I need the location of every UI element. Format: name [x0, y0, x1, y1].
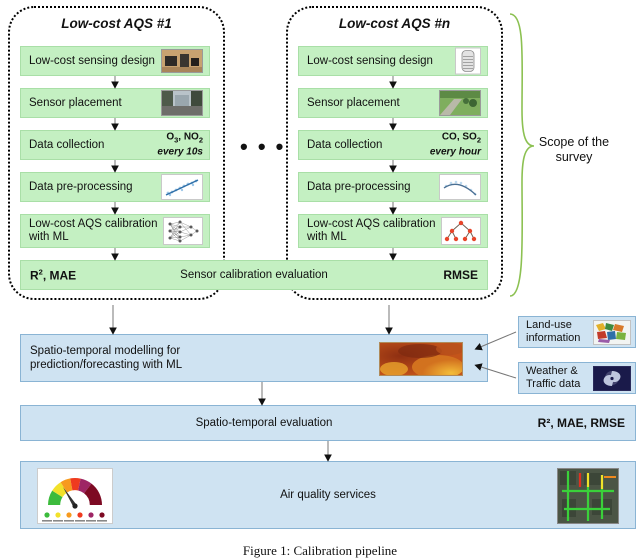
step-label: Low-cost sensing design — [299, 55, 433, 68]
thumb-park-path — [439, 90, 481, 116]
thumb-street-photo — [161, 90, 203, 116]
step-box-sensing-design-1: Low-cost sensing design — [20, 46, 210, 76]
thumb-city-pollution-map — [557, 468, 619, 524]
scope-of-survey-label: Scope of the survey — [520, 135, 628, 165]
thumb-decision-tree — [441, 217, 481, 245]
aqs-panel-n-title: Low-cost AQS #n — [286, 16, 503, 31]
air-quality-services-box: Air quality services — [20, 461, 636, 529]
step-label: Data pre-processing — [299, 181, 411, 194]
metric-right: RMSE — [443, 268, 478, 282]
step-box-calibration-n: Low-cost AQS calibrationwith ML — [298, 214, 488, 248]
input-label: Land-use information — [519, 319, 580, 345]
step-label: Sensor placement — [299, 97, 400, 110]
thumb-pollution-map — [379, 342, 463, 376]
thumb-scatter-regression — [161, 174, 203, 200]
thumb-curve-fit — [439, 174, 481, 200]
step-box-data-collection-n: Data collection CO, SO2 every hour — [298, 130, 488, 160]
thumb-sensor-board — [161, 49, 203, 73]
input-box-land-use: Land-use information — [518, 316, 636, 348]
sensor-calibration-evaluation-bar: R2, MAE Sensor calibration evaluation RM… — [20, 260, 488, 290]
evaluation-label: Sensor calibration evaluation — [21, 269, 487, 281]
step-box-preprocessing-n: Data pre-processing — [298, 172, 488, 202]
spatio-evaluation-metrics: R², MAE, RMSE — [538, 416, 625, 430]
step-label: Sensor placement — [21, 97, 122, 110]
step-label: Low-cost AQS calibrationwith ML — [299, 218, 435, 244]
input-box-weather-traffic: Weather & Traffic data — [518, 362, 636, 394]
thumb-land-use-map — [593, 320, 631, 345]
step-label: Low-cost AQS calibrationwith ML — [21, 218, 157, 244]
step-box-sensor-placement-1: Sensor placement — [20, 88, 210, 118]
services-label: Air quality services — [21, 489, 635, 501]
thumb-neural-network — [163, 217, 203, 245]
step-box-data-collection-1: Data collection O3, NO2 every 10s — [20, 130, 210, 160]
step-box-sensor-placement-n: Sensor placement — [298, 88, 488, 118]
data-collection-meta-1: O3, NO2 every 10s — [157, 132, 203, 159]
spatio-temporal-evaluation-box: Spatio-temporal evaluation R², MAE, RMSE — [20, 405, 636, 441]
pollutants-label: CO, SO2 — [442, 132, 481, 143]
step-box-calibration-1: Low-cost AQS calibrationwith ML — [20, 214, 210, 248]
step-label: Data pre-processing — [21, 181, 133, 194]
spatio-evaluation-label: Spatio-temporal evaluation — [21, 417, 507, 429]
figure-caption: Figure 1: Calibration pipeline — [0, 543, 640, 559]
step-label: Low-cost sensing design — [21, 55, 155, 68]
pollutants-label: O3, NO2 — [166, 132, 203, 143]
frequency-label: every hour — [430, 147, 481, 159]
step-box-sensing-design-n: Low-cost sensing design — [298, 46, 488, 76]
thumb-hurricane-image — [593, 366, 631, 391]
step-label: Data collection — [299, 139, 382, 152]
aqs-panel-1-title: Low-cost AQS #1 — [8, 16, 225, 31]
step-label: Data collection — [21, 139, 104, 152]
panels-ellipsis: • • • — [240, 136, 285, 158]
spatio-temporal-modelling-box: Spatio-temporal modelling for prediction… — [20, 334, 488, 382]
data-collection-meta-n: CO, SO2 every hour — [430, 132, 481, 159]
step-box-preprocessing-1: Data pre-processing — [20, 172, 210, 202]
input-label: Weather & Traffic data — [519, 365, 580, 391]
frequency-label: every 10s — [157, 147, 203, 159]
thumb-aqi-gauge — [37, 468, 113, 524]
thumb-sensor-enclosure — [455, 48, 481, 75]
figure-canvas: Low-cost AQS #1 Low-cost sensing design … — [0, 0, 640, 554]
modelling-label: Spatio-temporal modelling for prediction… — [30, 344, 182, 372]
